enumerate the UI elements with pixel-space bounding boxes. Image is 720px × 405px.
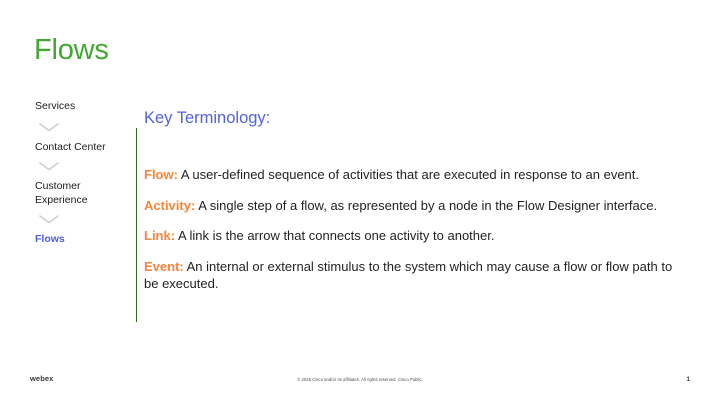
sidebar-item-customer-experience[interactable]: Customer Experience bbox=[35, 180, 127, 207]
chevron-down-icon bbox=[35, 123, 127, 141]
definition-term: Event: bbox=[144, 259, 184, 274]
chevron-down-icon bbox=[35, 215, 127, 233]
definition-term: Link: bbox=[144, 228, 175, 243]
content-body: Key Terminology: Flow: A user-defined se… bbox=[144, 108, 689, 293]
terminology-list: Flow: A user-defined sequence of activit… bbox=[144, 166, 689, 293]
definition-item-flow: Flow: A user-defined sequence of activit… bbox=[144, 166, 689, 184]
page-number: 1 bbox=[686, 375, 690, 384]
sidebar-item-contact-center[interactable]: Contact Center bbox=[35, 141, 127, 155]
definition-item-link: Link: A link is the arrow that connects … bbox=[144, 227, 689, 245]
slide-canvas: Flows Services Contact Center Customer E… bbox=[0, 0, 720, 405]
definition-term: Flow: bbox=[144, 167, 178, 182]
sidebar-item-flows[interactable]: Flows bbox=[35, 233, 127, 247]
definition-text: A link is the arrow that connects one ac… bbox=[175, 228, 494, 243]
definition-item-event: Event: An internal or external stimulus … bbox=[144, 258, 689, 293]
sidebar-item-services[interactable]: Services bbox=[35, 100, 127, 114]
definition-text: A single step of a flow, as represented … bbox=[195, 198, 657, 213]
definition-text: An internal or external stimulus to the … bbox=[144, 259, 672, 292]
content-heading: Key Terminology: bbox=[144, 108, 689, 128]
copyright-notice: © 2025 Cisco and/or its affiliates. All … bbox=[0, 377, 720, 383]
page-title: Flows bbox=[34, 33, 109, 67]
definition-item-activity: Activity: A single step of a flow, as re… bbox=[144, 197, 689, 215]
definition-term: Activity: bbox=[144, 198, 195, 213]
definition-text: A user-defined sequence of activities th… bbox=[178, 167, 639, 182]
vertical-accent-rule bbox=[136, 128, 137, 322]
breadcrumb-nav: Services Contact Center Customer Experie… bbox=[35, 100, 127, 247]
chevron-down-icon bbox=[35, 162, 127, 180]
nav-spacer bbox=[35, 114, 127, 123]
nav-spacer bbox=[35, 154, 127, 162]
nav-spacer bbox=[35, 207, 127, 215]
